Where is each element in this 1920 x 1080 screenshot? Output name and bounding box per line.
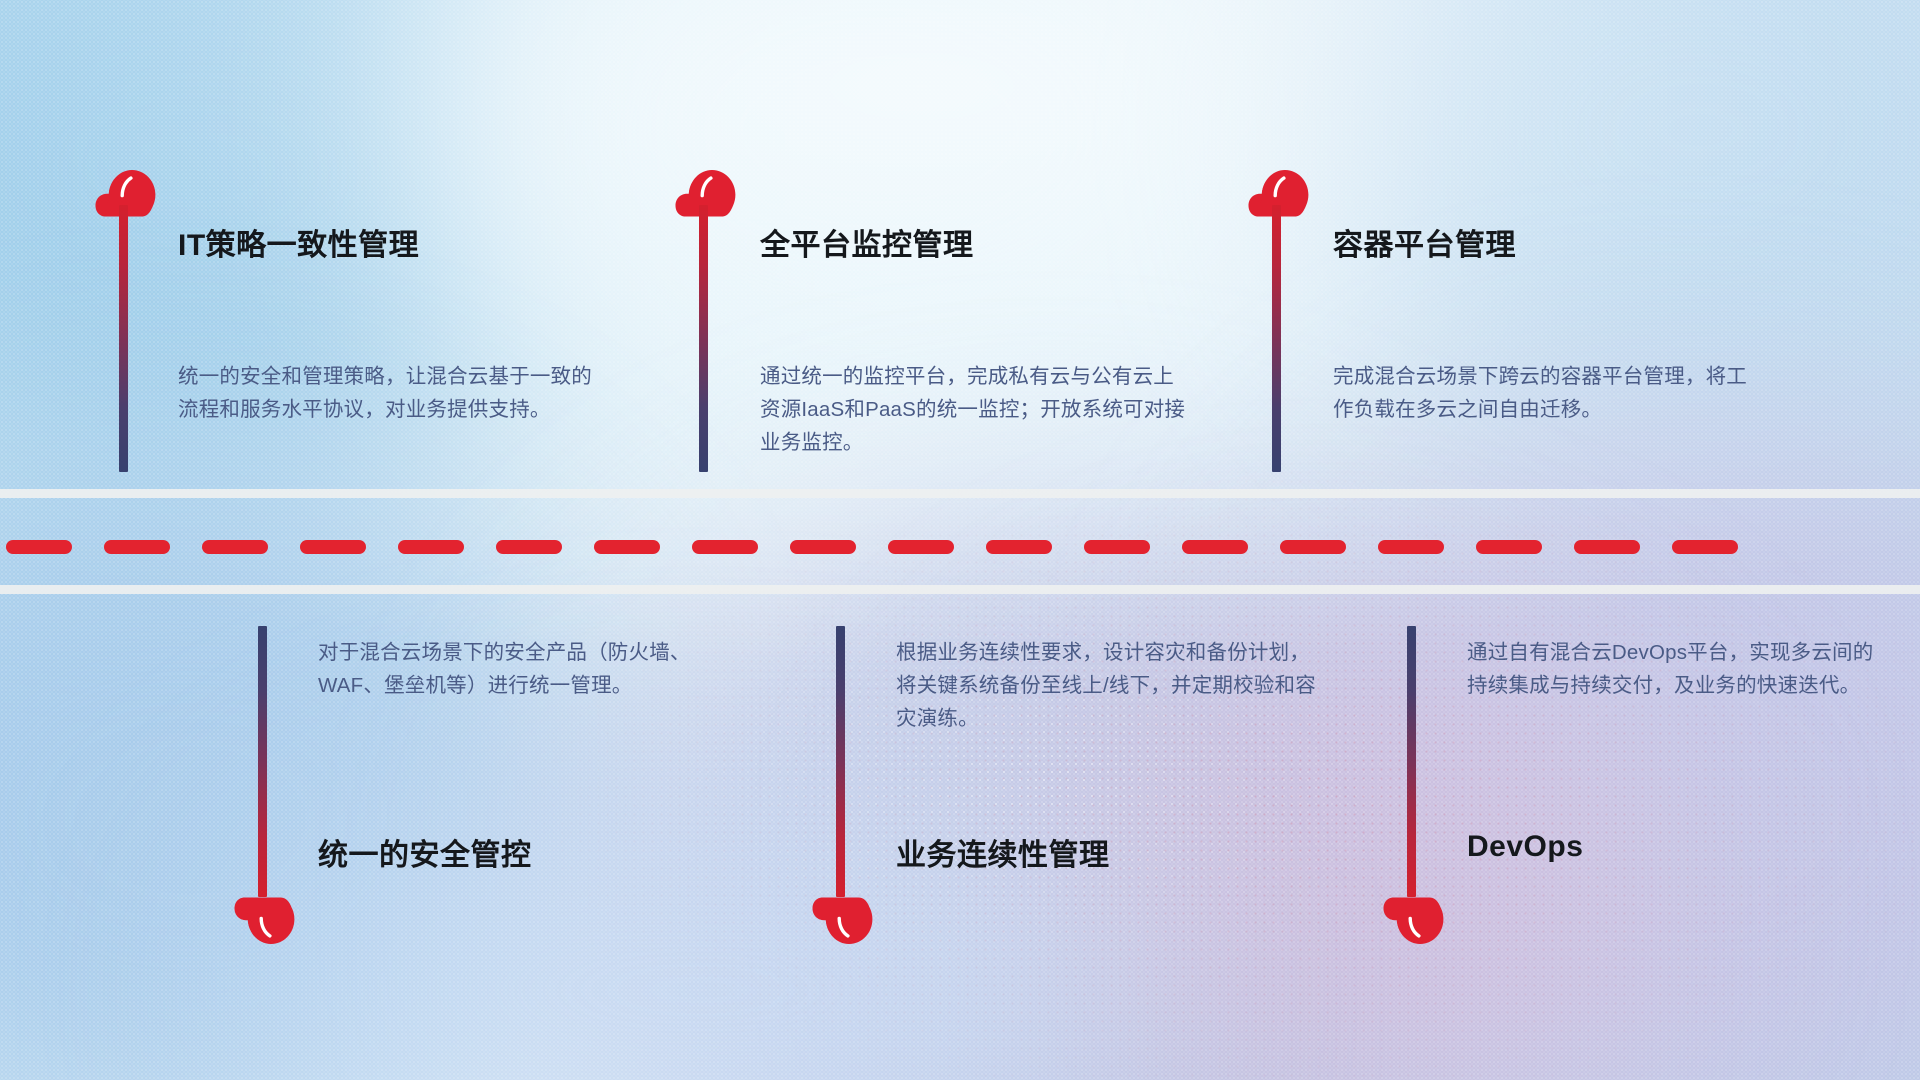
road-dash-segment bbox=[594, 540, 660, 554]
item-body: 通过统一的监控平台，完成私有云与公有云上资源IaaS和PaaS的统一监控；开放系… bbox=[760, 360, 1190, 459]
item-title: 容器平台管理 bbox=[1333, 220, 1516, 264]
road-dash-segment bbox=[1378, 540, 1444, 554]
stem-connector bbox=[1272, 205, 1281, 472]
road-dash-segment bbox=[1574, 540, 1640, 554]
item-body: 统一的安全和管理策略，让混合云基于一致的流程和服务水平协议，对业务提供支持。 bbox=[178, 360, 608, 426]
item-body: 完成混合云场景下跨云的容器平台管理，将工作负载在多云之间自由迁移。 bbox=[1333, 360, 1763, 426]
item-title: IT策略一致性管理 bbox=[178, 220, 419, 264]
stem-connector bbox=[699, 205, 708, 472]
road-dashed-centerline bbox=[0, 540, 1920, 554]
road-dash-segment bbox=[1182, 540, 1248, 554]
road-dash-segment bbox=[104, 540, 170, 554]
road-dash-segment bbox=[1476, 540, 1542, 554]
stem-connector bbox=[258, 626, 267, 897]
stem-connector bbox=[836, 626, 845, 897]
road-dash-segment bbox=[6, 540, 72, 554]
item-body: 根据业务连续性要求，设计容灾和备份计划，将关键系统备份至线上/线下，并定期校验和… bbox=[896, 636, 1316, 735]
road-dash-segment bbox=[1280, 540, 1346, 554]
item-title: 业务连续性管理 bbox=[896, 830, 1110, 874]
item-title: DevOps bbox=[1467, 830, 1583, 864]
stem-connector bbox=[119, 205, 128, 472]
road-dash-segment bbox=[790, 540, 856, 554]
road-edge-top bbox=[0, 489, 1920, 498]
item-body: 通过自有混合云DevOps平台，实现多云间的持续集成与持续交付，及业务的快速迭代… bbox=[1467, 636, 1887, 702]
road-dash-segment bbox=[692, 540, 758, 554]
road-dash-segment bbox=[202, 540, 268, 554]
road-dash-segment bbox=[496, 540, 562, 554]
road-edge-bottom bbox=[0, 585, 1920, 594]
road-dash-segment bbox=[888, 540, 954, 554]
road-dash-segment bbox=[1672, 540, 1738, 554]
road-dash-segment bbox=[300, 540, 366, 554]
item-title: 统一的安全管控 bbox=[318, 830, 532, 874]
stem-connector bbox=[1407, 626, 1416, 897]
road-dash-segment bbox=[986, 540, 1052, 554]
item-title: 全平台监控管理 bbox=[760, 220, 974, 264]
road-dash-segment bbox=[1084, 540, 1150, 554]
road-dash-segment bbox=[398, 540, 464, 554]
infographic-canvas: IT策略一致性管理 统一的安全和管理策略，让混合云基于一致的流程和服务水平协议，… bbox=[0, 0, 1920, 1080]
item-body: 对于混合云场景下的安全产品（防火墙、WAF、堡垒机等）进行统一管理。 bbox=[318, 636, 738, 702]
